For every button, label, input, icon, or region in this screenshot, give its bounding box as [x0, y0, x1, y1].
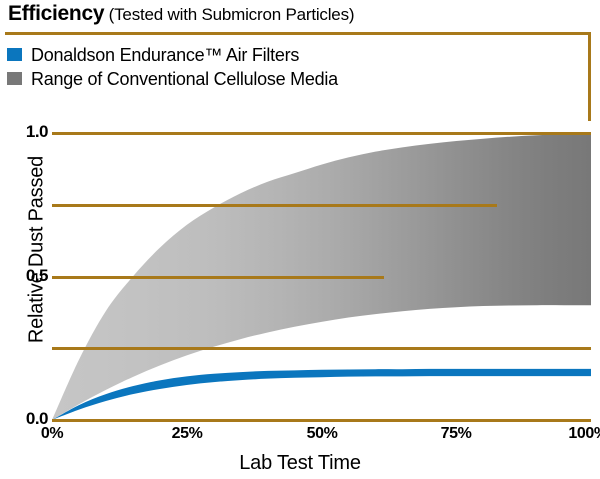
legend-label-cellulose: Range of Conventional Cellulose Media — [31, 69, 338, 90]
gridline-0-5 — [52, 276, 384, 279]
x-axis-label: Lab Test Time — [0, 452, 600, 475]
title-subtitle: (Tested with Submicron Particles) — [109, 5, 355, 24]
legend-right-rule — [588, 32, 591, 121]
legend-item-donaldson: Donaldson Endurance™ Air Filters — [7, 45, 299, 67]
legend-label-donaldson: Donaldson Endurance™ Air Filters — [31, 45, 299, 66]
gridline-1-0 — [52, 132, 591, 135]
x-tick-label-100pct: 100% — [553, 425, 600, 443]
gridline-0-25 — [52, 347, 591, 350]
x-tick-label-50pct: 50% — [287, 425, 357, 443]
page-title: Efficiency (Tested with Submicron Partic… — [8, 2, 592, 28]
gridline-0-75 — [52, 204, 497, 207]
x-tick-label-0pct: 0% — [17, 425, 87, 443]
x-tick-label-75pct: 75% — [421, 425, 491, 443]
y-axis-label: Relative Dust Passed — [26, 125, 49, 375]
legend-item-cellulose: Range of Conventional Cellulose Media — [7, 69, 338, 91]
efficiency-chart: Efficiency (Tested with Submicron Partic… — [0, 0, 600, 479]
gridline-0-0 — [52, 419, 591, 422]
legend-top-rule — [5, 32, 591, 35]
x-tick-label-25pct: 25% — [152, 425, 222, 443]
